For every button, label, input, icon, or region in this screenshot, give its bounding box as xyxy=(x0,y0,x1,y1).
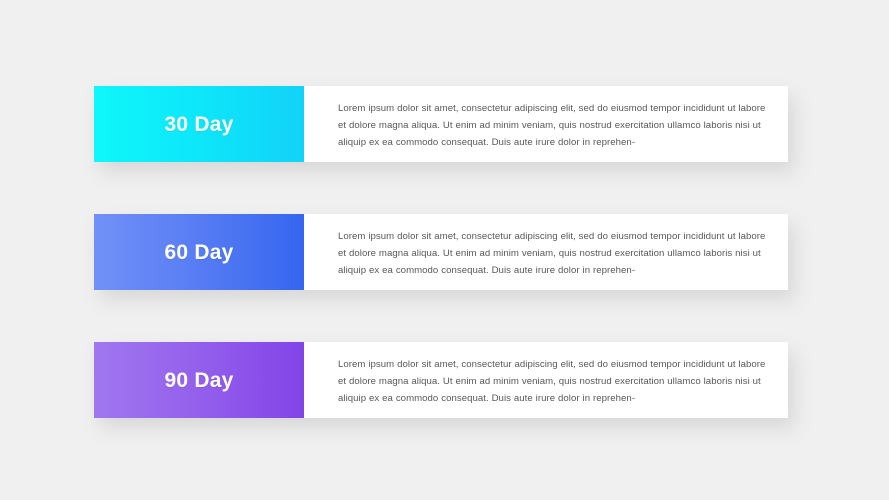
card-body-panel: Lorem ipsum dolor sit amet, consectetur … xyxy=(304,342,788,418)
card-body-panel: Lorem ipsum dolor sit amet, consectetur … xyxy=(304,214,788,290)
card-label-text: 90 Day xyxy=(165,370,234,391)
card-label-text: 30 Day xyxy=(165,114,234,135)
card-body-text: Lorem ipsum dolor sit amet, consectetur … xyxy=(338,228,772,279)
timeline-card-list: 30 Day Lorem ipsum dolor sit amet, conse… xyxy=(94,86,788,418)
list-item[interactable]: 90 Day Lorem ipsum dolor sit amet, conse… xyxy=(94,342,788,418)
card-label-panel-60-day[interactable]: 60 Day xyxy=(94,214,304,290)
slide-canvas: 30 Day Lorem ipsum dolor sit amet, conse… xyxy=(0,0,889,500)
card-body-text: Lorem ipsum dolor sit amet, consectetur … xyxy=(338,356,772,407)
list-item[interactable]: 30 Day Lorem ipsum dolor sit amet, conse… xyxy=(94,86,788,162)
card-label-panel-30-day[interactable]: 30 Day xyxy=(94,86,304,162)
card-label-panel-90-day[interactable]: 90 Day xyxy=(94,342,304,418)
card-body-panel: Lorem ipsum dolor sit amet, consectetur … xyxy=(304,86,788,162)
card-label-text: 60 Day xyxy=(165,242,234,263)
card-body-text: Lorem ipsum dolor sit amet, consectetur … xyxy=(338,100,772,151)
list-item[interactable]: 60 Day Lorem ipsum dolor sit amet, conse… xyxy=(94,214,788,290)
